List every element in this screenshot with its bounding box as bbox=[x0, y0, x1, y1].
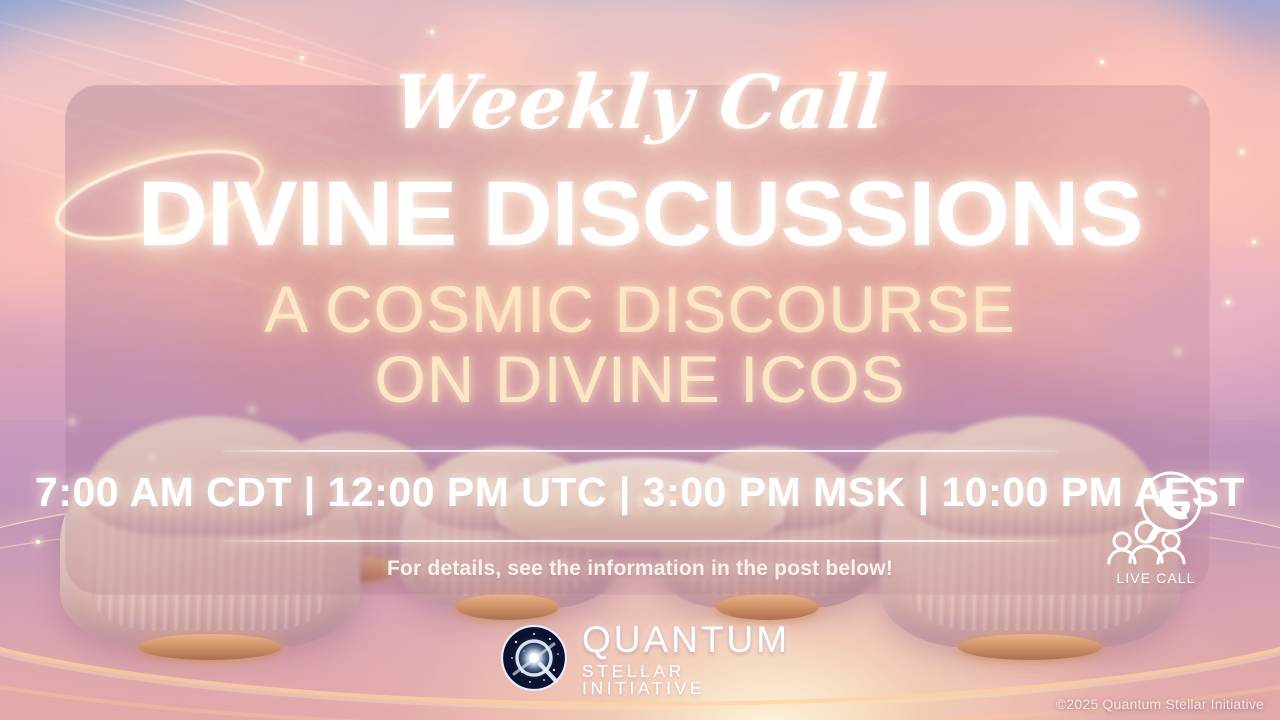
subtitle-line-2: ON DIVINE ICOS bbox=[0, 348, 1280, 411]
details-note: For details, see the information in the … bbox=[0, 557, 1280, 581]
divider-top bbox=[222, 450, 1058, 452]
subtitle-line-1: A COSMIC DISCOURSE bbox=[264, 272, 1015, 346]
page-title: DIVINE DISCUSSIONS bbox=[0, 168, 1280, 260]
people-group-icon bbox=[1109, 522, 1184, 563]
live-call-badge: LIVE CALL bbox=[1100, 470, 1212, 592]
live-call-label: LIVE CALL bbox=[1100, 570, 1212, 586]
brand-logo: QUANTUM STELLAR INITIATIVE bbox=[500, 620, 790, 696]
logo-name: QUANTUM bbox=[582, 621, 790, 658]
live-call-badge-graphic bbox=[1100, 470, 1212, 572]
divider-bottom bbox=[222, 540, 1058, 542]
quantum-emblem-icon bbox=[500, 624, 568, 692]
promo-banner: Weekly Call DIVINE DISCUSSIONS A COSMIC … bbox=[0, 0, 1280, 720]
logo-tagline: STELLAR INITIATIVE bbox=[582, 663, 790, 698]
subtitle: A COSMIC DISCOURSE ON DIVINE ICOS bbox=[0, 278, 1280, 410]
kicker-weekly-call: Weekly Call bbox=[0, 66, 1280, 140]
copyright-footer: ©2025 Quantum Stellar Initiative bbox=[1056, 696, 1264, 712]
quantum-emblem-graphic bbox=[500, 624, 568, 692]
schedule-times: 7:00 AM CDT | 12:00 PM UTC | 3:00 PM MSK… bbox=[0, 472, 1280, 513]
